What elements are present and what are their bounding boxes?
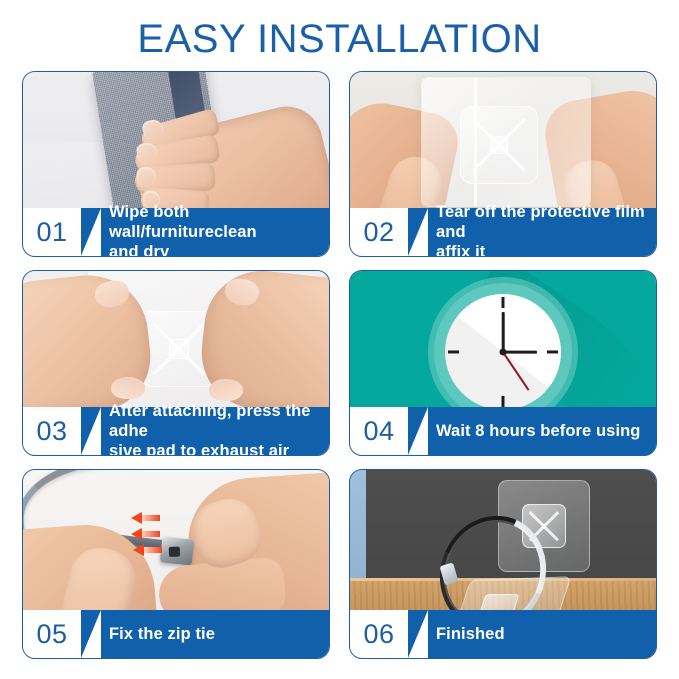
step-caption-06: 06 Finished bbox=[350, 610, 656, 658]
clock-tick-3 bbox=[547, 350, 558, 353]
arrow-left-icon-3-tail bbox=[144, 547, 162, 553]
step-panel-04: 04 Wait 8 hours before using bbox=[349, 270, 657, 456]
step-text-01: Wipe both wall/furnitureclean and dry bbox=[81, 208, 329, 256]
clock-tick-12 bbox=[502, 297, 505, 308]
step-text-line2: affix it bbox=[436, 242, 646, 257]
adhesive-hook-icon bbox=[460, 106, 538, 184]
step-text-line2: sive pad to exhaust air bbox=[109, 441, 319, 456]
clock-hour-hand bbox=[502, 312, 505, 352]
step-panel-02: 02 Tear off the protective film and affi… bbox=[349, 71, 657, 257]
arrow-left-icon-1 bbox=[131, 512, 142, 524]
clock-tick-9 bbox=[448, 350, 459, 353]
step-text-line2: and dry bbox=[109, 242, 319, 257]
step-number-03: 03 bbox=[23, 407, 81, 455]
step-panel-05: 05 Fix the zip tie bbox=[22, 469, 330, 659]
infographic-root: EASY INSTALLATION 01 Wipe both wall/furn… bbox=[0, 0, 679, 679]
step-panel-06: 06 Finished bbox=[349, 469, 657, 659]
step-number-02: 02 bbox=[350, 208, 408, 256]
arrow-left-icon-1-tail bbox=[142, 515, 160, 521]
step-number-04: 04 bbox=[350, 407, 408, 455]
step-text-06: Finished bbox=[408, 610, 656, 658]
arrow-left-icon-3 bbox=[133, 544, 144, 556]
steps-grid: 01 Wipe both wall/furnitureclean and dry bbox=[22, 71, 657, 659]
step-caption-05: 05 Fix the zip tie bbox=[23, 610, 329, 658]
step-text-02: Tear off the protective film and affix i… bbox=[408, 208, 656, 256]
clock-tick-6 bbox=[502, 396, 505, 407]
step-text-line1: Wait 8 hours before using bbox=[436, 421, 646, 441]
clock-face bbox=[445, 294, 561, 410]
step-caption-01: 01 Wipe both wall/furnitureclean and dry bbox=[23, 208, 329, 256]
clock-icon bbox=[434, 283, 572, 421]
clock-minute-hand bbox=[503, 351, 537, 354]
step-number-05: 05 bbox=[23, 610, 81, 658]
step-panel-03: 03 After attaching, press the adhe sive … bbox=[22, 270, 330, 456]
step-number-01: 01 bbox=[23, 208, 81, 256]
step-text-line1: Fix the zip tie bbox=[109, 624, 319, 644]
step-text-03: After attaching, press the adhe sive pad… bbox=[81, 407, 329, 455]
step-text-05: Fix the zip tie bbox=[81, 610, 329, 658]
step-panel-01: 01 Wipe both wall/furnitureclean and dry bbox=[22, 71, 330, 257]
clock-second-hand bbox=[502, 351, 529, 390]
step-number-06: 06 bbox=[350, 610, 408, 658]
step-text-line1: After attaching, press the adhe bbox=[109, 401, 319, 441]
step-text-line1: Finished bbox=[436, 624, 646, 644]
step-text-line1: Wipe both wall/furnitureclean bbox=[109, 202, 319, 242]
step-caption-03: 03 After attaching, press the adhe sive … bbox=[23, 407, 329, 455]
clock-center-cap bbox=[500, 348, 507, 355]
arrow-left-icon-2 bbox=[131, 528, 142, 540]
page-title: EASY INSTALLATION bbox=[0, 16, 679, 62]
step-caption-04: 04 Wait 8 hours before using bbox=[350, 407, 656, 455]
zip-tie-head-icon bbox=[160, 536, 195, 565]
step-caption-02: 02 Tear off the protective film and affi… bbox=[350, 208, 656, 256]
step-text-line1: Tear off the protective film and bbox=[436, 202, 646, 242]
step-text-04: Wait 8 hours before using bbox=[408, 407, 656, 455]
arrow-left-icon-2-tail bbox=[142, 531, 160, 537]
